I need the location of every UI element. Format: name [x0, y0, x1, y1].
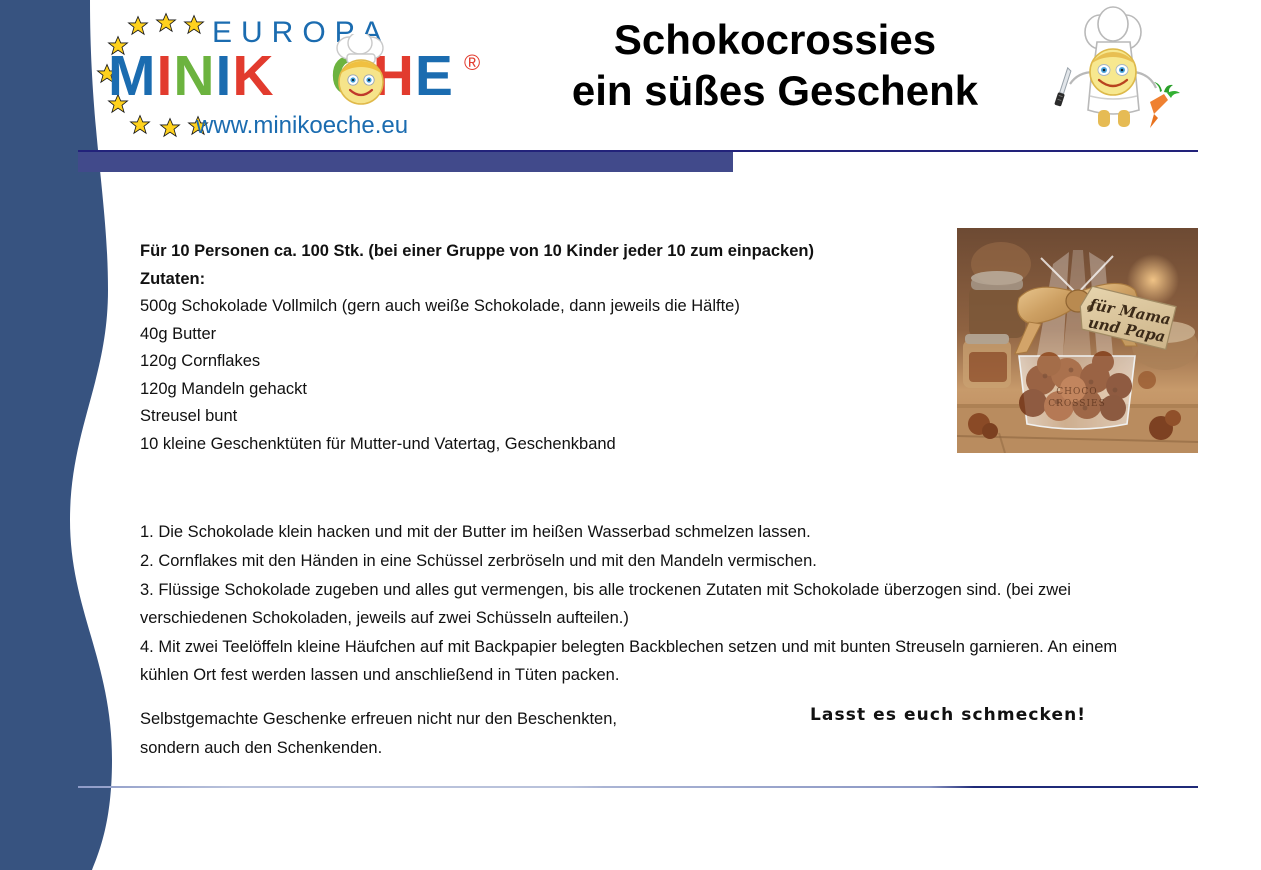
europa-minikoeche-logo: EUROPA MINIKCHE — [92, 12, 502, 140]
recipe-page: EUROPA MINIKCHE — [0, 0, 1261, 870]
ingredients-heading: Zutaten: — [140, 266, 940, 294]
pack-label-line-1: CHOCO — [1056, 387, 1097, 397]
logo-minikoeche-wordmark: MINIKCHE — [108, 48, 454, 105]
logo-letter-k: K — [232, 48, 274, 105]
preparation-step: 3. Flüssige Schokolade zugeben und alles… — [140, 576, 1140, 632]
footer-divider-rule — [78, 786, 1198, 788]
chef-mascot-icon — [1042, 6, 1192, 142]
logo-letter-i1: I — [156, 48, 173, 105]
closing-note-line: sondern auch den Schenkenden. — [140, 734, 780, 763]
logo-letter-e: E — [415, 48, 454, 105]
logo-website-url: www.minikoeche.eu — [196, 112, 408, 140]
pack-label-line-2: CROSSIES — [1048, 399, 1106, 409]
logo-letter-m: M — [108, 48, 156, 105]
ingredient-item: 500g Schokolade Vollmilch (gern auch wei… — [140, 293, 940, 321]
logo-letter-n: N — [173, 48, 215, 105]
ingredient-item: Streusel bunt — [140, 403, 940, 431]
ingredient-item: 40g Butter — [140, 321, 940, 349]
page-title-line-1: Schokocrossies — [505, 14, 1045, 65]
closing-note: Selbstgemachte Geschenke erfreuen nicht … — [140, 705, 780, 763]
closing-note-line: Selbstgemachte Geschenke erfreuen nicht … — [140, 705, 780, 734]
page-title-line-2: ein süßes Geschenk — [505, 65, 1045, 116]
product-photo: CHOCO CROSSIES für Mama — [957, 228, 1198, 453]
preparation-step: 2. Cornflakes mit den Händen in eine Sch… — [140, 547, 1140, 575]
logo-letter-i2: I — [216, 48, 233, 105]
ingredient-item: 120g Cornflakes — [140, 348, 940, 376]
yield-note: Für 10 Personen ca. 100 Stk. (bei einer … — [140, 238, 940, 266]
enjoy-message: Lasst es euch schmecken! — [810, 705, 1086, 725]
header-accent-band — [78, 152, 733, 172]
ingredient-item: 120g Mandeln gehackt — [140, 376, 940, 404]
ingredients-block: Für 10 Personen ca. 100 Stk. (bei einer … — [140, 238, 940, 458]
registered-trademark-icon: ® — [464, 50, 480, 76]
preparation-step: 1. Die Schokolade klein hacken und mit d… — [140, 518, 1140, 546]
chef-head-icon — [327, 34, 395, 110]
page-header: EUROPA MINIKCHE — [0, 0, 1261, 150]
preparation-step: 4. Mit zwei Teelöffeln kleine Häufchen a… — [140, 633, 1140, 689]
page-title: Schokocrossies ein süßes Geschenk — [505, 14, 1045, 116]
preparation-steps: 1. Die Schokolade klein hacken und mit d… — [140, 518, 1140, 690]
ingredient-item: 10 kleine Geschenktüten für Mutter-und V… — [140, 431, 940, 459]
